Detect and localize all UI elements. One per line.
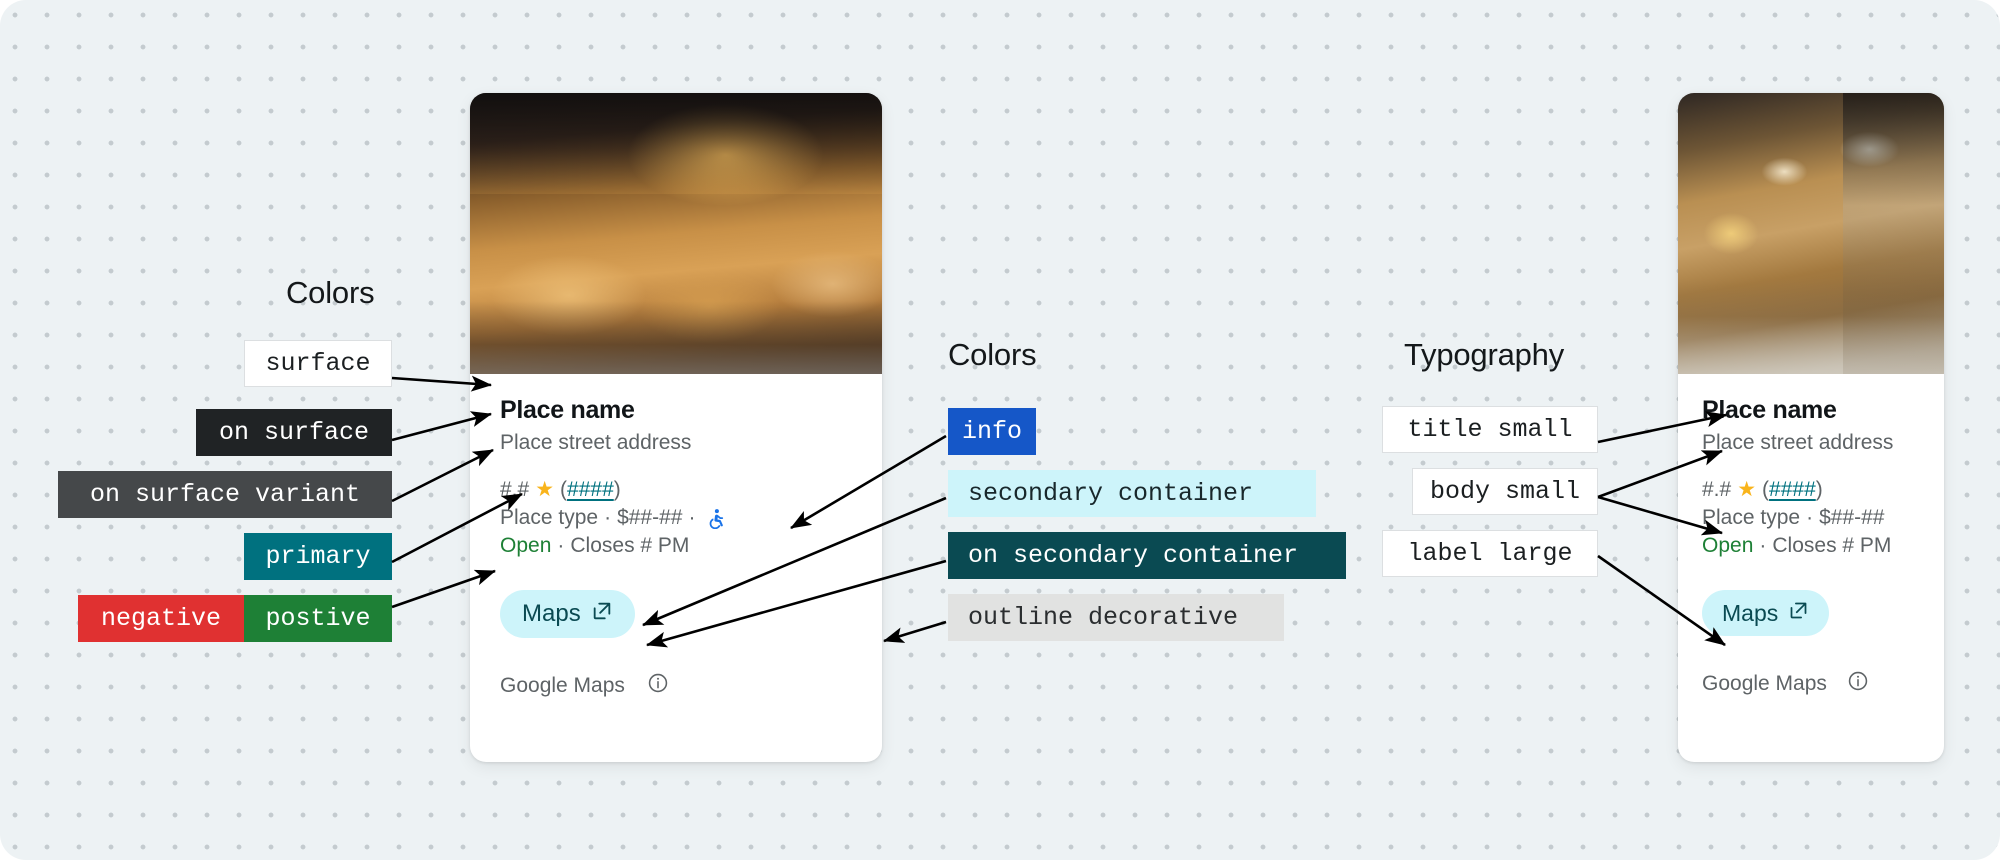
rating-value: #.# — [500, 478, 529, 502]
color-token-outline-decorative[interactable]: outline decorative — [948, 594, 1284, 641]
rating-value: #.# — [1702, 478, 1731, 502]
separator-1: · — [604, 506, 611, 530]
place-type-row: Place type · $##-## — [1702, 506, 1920, 530]
separator-1: · — [1806, 506, 1813, 530]
star-icon: ★ — [1737, 477, 1756, 502]
place-photo-bakery — [470, 93, 882, 374]
external-link-icon — [1788, 600, 1809, 627]
section-title-colors-middle: Colors — [948, 337, 1036, 373]
place-type: Place type — [1702, 506, 1800, 530]
separator-3: · — [557, 534, 564, 558]
review-count-link[interactable]: #### — [1769, 478, 1816, 502]
type-token-label-large[interactable]: label large — [1382, 530, 1598, 577]
color-token-on-surface-variant[interactable]: on surface variant — [58, 471, 392, 518]
open-status: Open — [500, 534, 551, 558]
open-status: Open — [1702, 534, 1753, 558]
color-token-primary[interactable]: primary — [244, 533, 392, 580]
footer-brand-label: Google Maps — [500, 674, 625, 698]
place-rating-row: #.# ★ (####) — [500, 477, 852, 502]
color-token-postive[interactable]: postive — [244, 595, 392, 642]
color-token-surface[interactable]: surface — [244, 340, 392, 387]
maps-button[interactable]: Maps — [1702, 590, 1829, 636]
place-card-main: Place name Place street address #.# ★ (#… — [470, 93, 882, 762]
review-open-paren: ( — [560, 478, 567, 502]
info-icon[interactable] — [1847, 670, 1869, 697]
place-photo-cafe — [1678, 93, 1944, 374]
card-footer: Google Maps — [1678, 670, 1944, 697]
review-count-link[interactable]: #### — [567, 478, 614, 502]
section-title-colors-left: Colors — [286, 275, 374, 311]
info-icon[interactable] — [647, 672, 669, 699]
closing-time: Closes # PM — [570, 534, 689, 558]
color-token-secondary-container[interactable]: secondary container — [948, 470, 1316, 517]
color-token-info[interactable]: info — [948, 408, 1036, 455]
review-close-paren: ) — [1816, 478, 1823, 502]
external-link-icon — [591, 600, 613, 629]
place-type: Place type — [500, 506, 598, 530]
wheelchair-accessible-icon — [705, 508, 726, 529]
review-open-paren: ( — [1762, 478, 1769, 502]
separator-3: · — [1759, 534, 1766, 558]
color-token-on-secondary-container[interactable]: on secondary container — [948, 532, 1346, 579]
closing-time: Closes # PM — [1772, 534, 1891, 558]
place-name: Place name — [500, 396, 852, 425]
place-rating-row: #.# ★ (####) — [1702, 477, 1920, 502]
separator-2: · — [688, 506, 695, 530]
price-range: $##-## — [617, 506, 682, 530]
place-hours-row: Open · Closes # PM — [1702, 534, 1920, 558]
star-icon: ★ — [535, 477, 554, 502]
section-title-typography: Typography — [1404, 337, 1564, 373]
color-token-negative[interactable]: negative — [78, 595, 244, 642]
maps-button-label: Maps — [1722, 600, 1778, 627]
place-name: Place name — [1702, 396, 1920, 425]
price-range: $##-## — [1819, 506, 1884, 530]
color-token-on-surface[interactable]: on surface — [196, 409, 392, 456]
place-type-row: Place type · $##-## · — [500, 506, 852, 530]
maps-button[interactable]: Maps — [500, 590, 635, 638]
type-token-title-small[interactable]: title small — [1382, 406, 1598, 453]
place-address: Place street address — [1702, 431, 1920, 455]
type-token-body-small[interactable]: body small — [1412, 468, 1598, 515]
design-annotation-canvas: Colors Colors Typography surface on surf… — [0, 0, 2000, 860]
place-hours-row: Open · Closes # PM — [500, 534, 852, 558]
arrow-outline-decorative — [884, 622, 946, 641]
maps-button-label: Maps — [522, 600, 581, 628]
card-footer: Google Maps — [470, 672, 882, 699]
place-address: Place street address — [500, 431, 852, 455]
place-card-typography: Place name Place street address #.# ★ (#… — [1678, 93, 1944, 762]
footer-brand-label: Google Maps — [1702, 672, 1827, 696]
review-close-paren: ) — [614, 478, 621, 502]
